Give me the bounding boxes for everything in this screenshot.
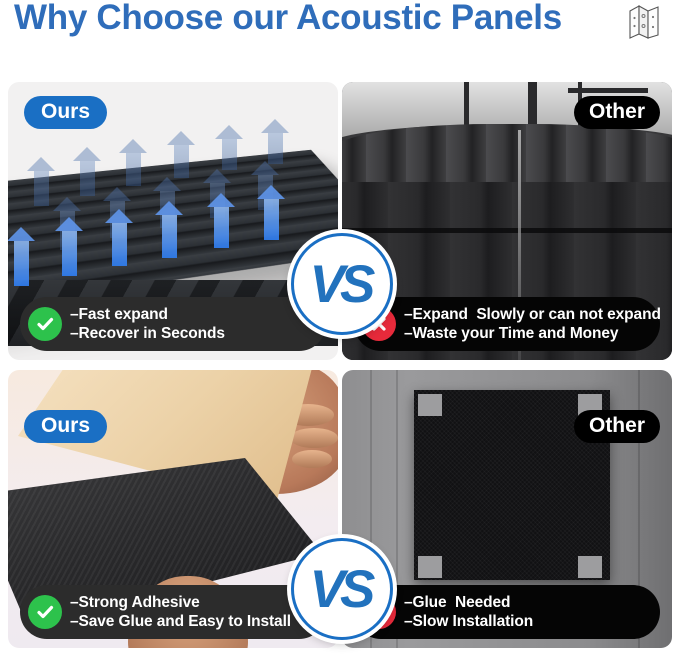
badge-other: Other <box>574 410 660 443</box>
caption-expansion-other: –Expand Slowly or can not expand –Waste … <box>354 297 660 351</box>
check-circle-icon <box>28 595 62 629</box>
comparison-cell-installation-other: Other –Glue Needed –Slow Installation <box>342 370 672 648</box>
vs-badge-bottom: VS <box>291 538 393 640</box>
page-title: Why Choose our Acoustic Panels <box>14 0 562 38</box>
caption-line: –Slow Installation <box>404 613 533 630</box>
caption-line: –Glue Needed <box>404 594 533 611</box>
caption-expansion-ours: –Fast expand –Recover in Seconds <box>20 297 326 351</box>
caption-installation-ours: –Strong Adhesive –Save Glue and Easy to … <box>20 585 326 639</box>
comparison-cell-expansion-other: Other –Expand Slowly or can not expand –… <box>342 82 672 360</box>
vs-label: VS <box>310 563 375 616</box>
vs-badge-top: VS <box>291 233 393 335</box>
badge-ours: Ours <box>24 96 107 129</box>
caption-line: –Waste your Time and Money <box>404 325 661 342</box>
corner-tape <box>418 394 442 416</box>
acoustic-panel-screen-icon <box>627 4 661 40</box>
corner-tape <box>418 556 442 578</box>
caption-installation-other: –Glue Needed –Slow Installation <box>354 585 660 639</box>
badge-other: Other <box>574 96 660 129</box>
comparison-grid: Ours –Fast expand –Recover in Seconds <box>0 78 679 659</box>
vs-label: VS <box>310 258 375 311</box>
caption-line: –Expand Slowly or can not expand <box>404 306 661 323</box>
check-circle-icon <box>28 307 62 341</box>
caption-line: –Recover in Seconds <box>70 325 225 342</box>
caption-line: –Strong Adhesive <box>70 594 291 611</box>
page-header: Why Choose our Acoustic Panels <box>0 0 679 72</box>
caption-line: –Save Glue and Easy to Install <box>70 613 291 630</box>
caption-line: –Fast expand <box>70 306 225 323</box>
comparison-cell-expansion-ours: Ours –Fast expand –Recover in Seconds <box>8 82 338 360</box>
comparison-cell-installation-ours: Ours –Strong Adhesive –Save Glue and Eas… <box>8 370 338 648</box>
badge-ours: Ours <box>24 410 107 443</box>
corner-tape <box>578 556 602 578</box>
